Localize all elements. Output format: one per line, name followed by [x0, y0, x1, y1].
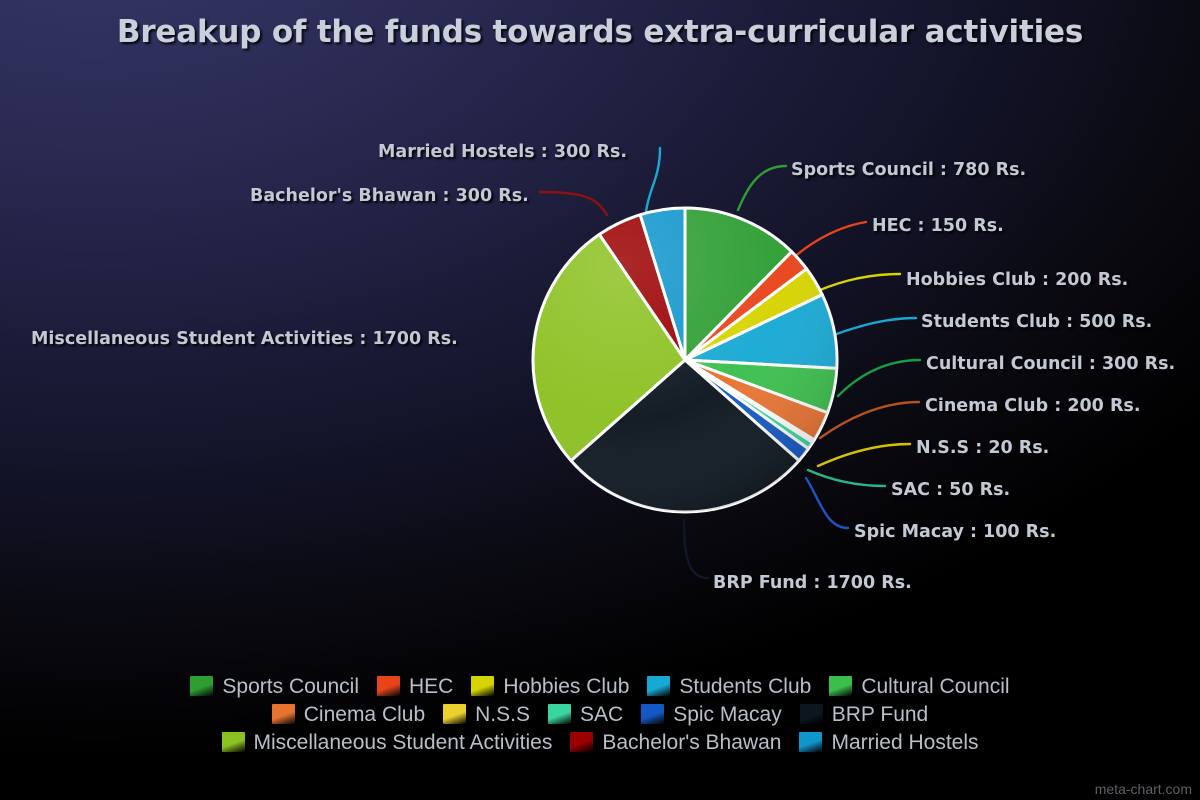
legend-item-spic-macay[interactable]: Spic Macay: [641, 704, 782, 725]
legend-swatch-cultural-council: [829, 676, 852, 696]
leader-line-nss: [818, 444, 910, 466]
legend-item-hobbies-club[interactable]: Hobbies Club: [471, 676, 629, 697]
legend-label-hobbies-club: Hobbies Club: [503, 676, 629, 697]
pie-slice-group: Sports Council : 780 Rs.HEC : 150 Rs.Hob…: [533, 208, 837, 512]
legend-label-married-hostels: Married Hostels: [831, 732, 978, 753]
legend-swatch-bachelor-s-bhawan: [570, 732, 593, 752]
legend-label-sports-council: Sports Council: [222, 676, 359, 697]
slice-callout-married-hostels: Married Hostels : 300 Rs.: [378, 142, 627, 162]
slice-callout-hec: HEC : 150 Rs.: [872, 216, 1004, 236]
legend-row: Cinema ClubN.S.SSACSpic MacayBRP Fund: [0, 700, 1200, 728]
watermark: meta-chart.com: [1095, 781, 1192, 797]
slice-callout-bachelor-s-bhawan: Bachelor's Bhawan : 300 Rs.: [250, 186, 529, 206]
slice-callout-cinema-club: Cinema Club : 200 Rs.: [925, 396, 1140, 416]
legend-row: Miscellaneous Student ActivitiesBachelor…: [0, 728, 1200, 756]
legend-item-hec[interactable]: HEC: [377, 676, 453, 697]
legend-swatch-n-s-s: [443, 704, 466, 724]
slice-callout-miscellaneous-student-activities: Miscellaneous Student Activities : 1700 …: [31, 329, 458, 349]
legend-label-brp-fund: BRP Fund: [832, 704, 929, 725]
legend-label-n-s-s: N.S.S: [475, 704, 530, 725]
slice-callout-sports-council: Sports Council : 780 Rs.: [791, 160, 1026, 180]
legend-swatch-sac: [548, 704, 571, 724]
legend-swatch-cinema-club: [272, 704, 295, 724]
legend-row: Sports CouncilHECHobbies ClubStudents Cl…: [0, 672, 1200, 700]
slice-callout-students-club: Students Club : 500 Rs.: [921, 312, 1152, 332]
legend-swatch-spic-macay: [641, 704, 664, 724]
legend-swatch-hec: [377, 676, 400, 696]
slice-callout-sac: SAC : 50 Rs.: [891, 480, 1010, 500]
leader-line-cultural-council: [838, 360, 920, 396]
legend-label-cinema-club: Cinema Club: [304, 704, 425, 725]
legend: Sports CouncilHECHobbies ClubStudents Cl…: [0, 672, 1200, 756]
leader-line-spic-macay: [806, 478, 848, 528]
legend-swatch-students-club: [647, 676, 670, 696]
legend-label-cultural-council: Cultural Council: [861, 676, 1009, 697]
legend-swatch-miscellaneous-student-activities: [222, 732, 245, 752]
legend-item-cinema-club[interactable]: Cinema Club: [272, 704, 425, 725]
pie-chart-image: Breakup of the funds towards extra-curri…: [0, 0, 1200, 800]
legend-swatch-brp-fund: [800, 704, 823, 724]
legend-item-miscellaneous-student-activities[interactable]: Miscellaneous Student Activities: [222, 732, 553, 753]
legend-swatch-married-hostels: [799, 732, 822, 752]
legend-item-cultural-council[interactable]: Cultural Council: [829, 676, 1009, 697]
leader-line-sports-council: [738, 166, 786, 210]
slice-callout-hobbies-club: Hobbies Club : 200 Rs.: [906, 270, 1128, 290]
legend-item-students-club[interactable]: Students Club: [647, 676, 811, 697]
legend-swatch-sports-council: [190, 676, 213, 696]
slice-callout-cultural-council: Cultural Council : 300 Rs.: [926, 354, 1175, 374]
legend-label-sac: SAC: [580, 704, 623, 725]
legend-item-married-hostels[interactable]: Married Hostels: [799, 732, 978, 753]
legend-label-students-club: Students Club: [679, 676, 811, 697]
legend-item-sports-council[interactable]: Sports Council: [190, 676, 359, 697]
legend-item-brp-fund[interactable]: BRP Fund: [800, 704, 929, 725]
leader-line-cinema-club: [820, 402, 919, 438]
slice-callout-n-s-s: N.S.S : 20 Rs.: [916, 438, 1049, 458]
legend-label-spic-macay: Spic Macay: [673, 704, 782, 725]
leader-line-brp-fund: [684, 520, 708, 578]
legend-item-bachelor-s-bhawan[interactable]: Bachelor's Bhawan: [570, 732, 781, 753]
legend-label-miscellaneous-student-activities: Miscellaneous Student Activities: [254, 732, 553, 753]
legend-label-hec: HEC: [409, 676, 453, 697]
legend-item-sac[interactable]: SAC: [548, 704, 623, 725]
slice-callout-spic-macay: Spic Macay : 100 Rs.: [854, 522, 1056, 542]
legend-label-bachelor-s-bhawan: Bachelor's Bhawan: [602, 732, 781, 753]
leader-line-sac: [808, 470, 885, 486]
leader-line-married-hostels: [646, 148, 660, 212]
leader-line-bachelors-bhawan: [540, 192, 607, 215]
legend-item-n-s-s[interactable]: N.S.S: [443, 704, 530, 725]
legend-swatch-hobbies-club: [471, 676, 494, 696]
slice-callout-brp-fund: BRP Fund : 1700 Rs.: [713, 573, 912, 593]
